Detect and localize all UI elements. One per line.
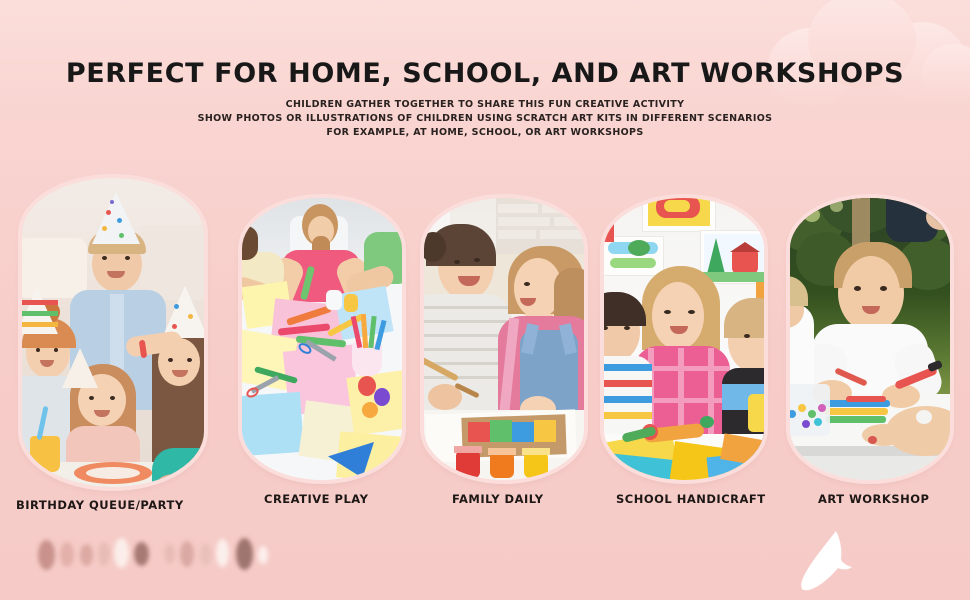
card-photo-frame [604, 198, 764, 480]
card-caption: BIRTHDAY QUEUE/PARTY [16, 498, 184, 512]
card-caption: SCHOOL HANDICRAFT [616, 492, 766, 506]
card-photo-frame [424, 198, 584, 480]
dove-icon [790, 528, 870, 594]
card-caption: CREATIVE PLAY [264, 492, 368, 506]
photo-creative-play [242, 198, 402, 480]
card-photo-frame [22, 178, 204, 487]
scenario-card-creative-play[interactable]: CREATIVE PLAY [242, 198, 402, 480]
photo-birthday-party [22, 178, 204, 487]
photo-family-daily [424, 198, 584, 480]
scenario-card-school-handicraft[interactable]: SCHOOL HANDICRAFT [604, 198, 764, 480]
photo-art-workshop [790, 198, 950, 480]
decorative-dots [30, 532, 250, 582]
card-photo-frame [790, 198, 950, 480]
card-caption: ART WORKSHOP [818, 492, 929, 506]
promo-banner: PERFECT FOR HOME, SCHOOL, AND ART WORKSH… [0, 0, 970, 600]
scenario-card-art-workshop[interactable]: ART WORKSHOP [790, 198, 950, 480]
photo-school-handicraft [604, 198, 764, 480]
scenario-card-birthday[interactable]: BIRTHDAY QUEUE/PARTY [22, 178, 204, 487]
card-photo-frame [242, 198, 402, 480]
scenario-card-list: BIRTHDAY QUEUE/PARTY [0, 0, 970, 600]
scenario-card-family-daily[interactable]: FAMILY DAILY [424, 198, 584, 480]
card-caption: FAMILY DAILY [452, 492, 544, 506]
